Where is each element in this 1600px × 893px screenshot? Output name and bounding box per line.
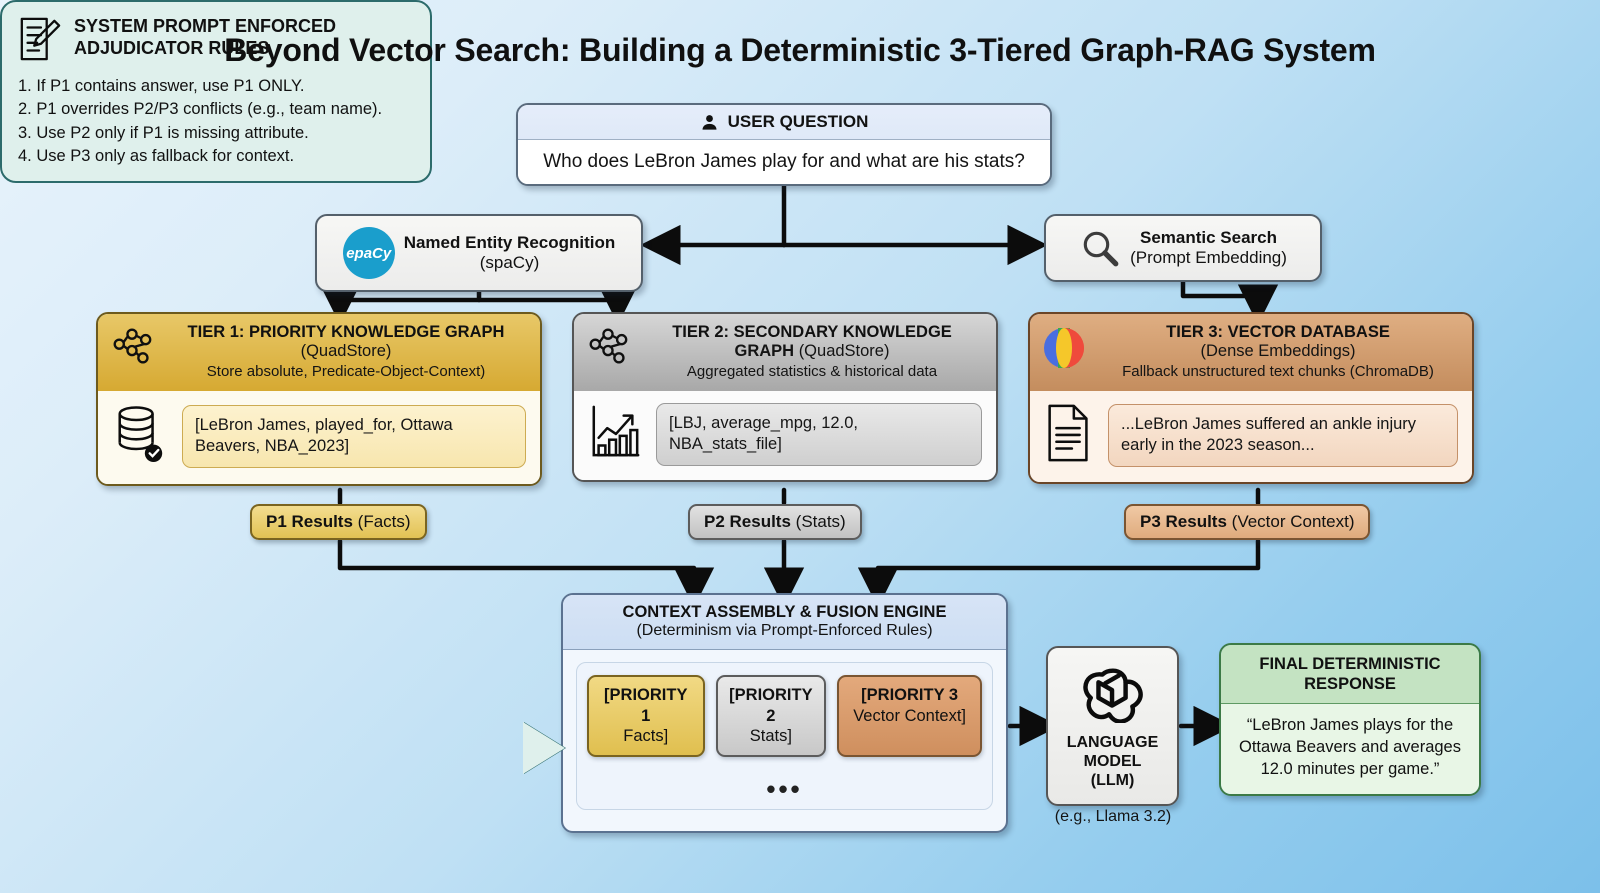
p3-results-pill: P3 Results (Vector Context) — [1124, 504, 1370, 540]
tier2-header: TIER 2: SECONDARY KNOWLEDGE GRAPH (QuadS… — [574, 314, 996, 391]
tier2-sample: [LBJ, average_mpg, 12.0, NBA_stats_file] — [656, 403, 982, 466]
tier1-desc: Store absolute, Predicate-Object-Context… — [164, 363, 528, 381]
rule-item: 4. Use P3 only as fallback for context. — [18, 145, 414, 168]
database-check-icon — [112, 403, 168, 470]
priority-3-sublabel: Vector Context] — [849, 706, 970, 727]
priority-2-label: [PRIORITY 2 — [728, 685, 815, 726]
magnifier-icon — [1079, 227, 1121, 269]
tier3-desc: Fallback unstructured text chunks (Chrom… — [1096, 363, 1460, 381]
p2-sublabel: (Stats) — [796, 512, 846, 531]
semantic-search-header: Semantic Search (Prompt Embedding) — [1046, 216, 1320, 280]
semantic-search-label: Semantic Search (Prompt Embedding) — [1130, 228, 1287, 268]
llm-line2: MODEL — [1084, 753, 1142, 770]
tier2-card: TIER 2: SECONDARY KNOWLEDGE GRAPH (QuadS… — [572, 312, 998, 482]
final-response-header: FINAL DETERMINISTIC RESPONSE — [1221, 645, 1479, 704]
tier1-card: TIER 1: PRIORITY KNOWLEDGE GRAPH (QuadSt… — [96, 312, 542, 486]
tier2-body: [LBJ, average_mpg, 12.0, NBA_stats_file] — [574, 391, 996, 480]
p3-sublabel: (Vector Context) — [1232, 512, 1355, 531]
p1-sublabel: (Facts) — [358, 512, 411, 531]
tier2-title-line2: GRAPH (QuadStore) — [640, 342, 984, 362]
chroma-logo-icon — [1042, 326, 1086, 375]
tier1-sample: [LeBron James, played_for, Ottawa Beaver… — [182, 405, 526, 468]
bar-chart-trend-icon — [588, 403, 642, 466]
language-model-caption: (e.g., Llama 3.2) — [1020, 808, 1206, 826]
rule-item: 1. If P1 contains answer, use P1 ONLY. — [18, 75, 414, 98]
tier2-title2: GRAPH — [735, 342, 795, 360]
ner-card: epaCy Named Entity Recognition (spaCy) — [315, 214, 643, 292]
tier2-titles: TIER 2: SECONDARY KNOWLEDGE GRAPH (QuadS… — [640, 323, 984, 381]
rule-item: 3. Use P2 only if P1 is missing attribut… — [18, 122, 414, 145]
tier1-header: TIER 1: PRIORITY KNOWLEDGE GRAPH (QuadSt… — [98, 314, 540, 391]
tier2-desc: Aggregated statistics & historical data — [640, 363, 984, 381]
tier1-titles: TIER 1: PRIORITY KNOWLEDGE GRAPH (QuadSt… — [164, 323, 528, 381]
ner-header: epaCy Named Entity Recognition (spaCy) — [317, 216, 641, 290]
p1-results-pill: P1 Results (Facts) — [250, 504, 427, 540]
priority-3-chip: [PRIORITY 3 Vector Context] — [837, 675, 982, 757]
p2-results-pill: P2 Results (Stats) — [688, 504, 862, 540]
priority-2-sublabel: Stats] — [728, 726, 815, 747]
user-question-title: USER QUESTION — [728, 112, 869, 132]
tier3-title: TIER 3: VECTOR DATABASE — [1096, 323, 1460, 342]
tier3-sample: ...LeBron James suffered an ankle injury… — [1108, 404, 1458, 467]
graph-nodes-icon — [586, 326, 630, 371]
user-icon — [700, 113, 719, 132]
p3-label: P3 Results — [1140, 512, 1232, 531]
tier1-body: [LeBron James, played_for, Ottawa Beaver… — [98, 391, 540, 484]
ner-title: Named Entity Recognition — [404, 233, 616, 252]
user-question-card: USER QUESTION Who does LeBron James play… — [516, 103, 1052, 186]
llm-line1: LANGUAGE — [1067, 734, 1159, 751]
fusion-engine-title: CONTEXT ASSEMBLY & FUSION ENGINE — [573, 603, 996, 622]
ner-subtitle: (spaCy) — [480, 253, 540, 272]
final-response-text: “LeBron James plays for the Ottawa Beave… — [1221, 704, 1479, 794]
fusion-engine-card: CONTEXT ASSEMBLY & FUSION ENGINE (Determ… — [561, 593, 1008, 833]
tier3-store: (Dense Embeddings) — [1096, 342, 1460, 362]
llm-line3: (LLM) — [1091, 772, 1135, 789]
tier2-title: TIER 2: SECONDARY KNOWLEDGE — [640, 323, 984, 342]
priority-2-chip: [PRIORITY 2 Stats] — [716, 675, 827, 757]
ellipsis-indicator: ••• — [563, 774, 1006, 805]
semantic-search-subtitle: (Prompt Embedding) — [1130, 248, 1287, 267]
priority-1-label: [PRIORITY 1 — [599, 685, 693, 726]
fusion-engine-subtitle: (Determinism via Prompt-Enforced Rules) — [573, 622, 996, 640]
priority-1-sublabel: Facts] — [599, 726, 693, 747]
fusion-engine-body: [PRIORITY 1 Facts] [PRIORITY 2 Stats] [P… — [576, 662, 993, 810]
user-question-header: USER QUESTION — [518, 105, 1050, 140]
p1-label: P1 Results — [266, 512, 358, 531]
ner-label: Named Entity Recognition (spaCy) — [404, 233, 616, 273]
priority-3-label: [PRIORITY 3 — [849, 685, 970, 706]
graph-nodes-icon — [110, 326, 154, 371]
semantic-search-title: Semantic Search — [1140, 228, 1277, 247]
p2-label: P2 Results — [704, 512, 796, 531]
tier3-body: ...LeBron James suffered an ankle injury… — [1030, 391, 1472, 482]
fusion-engine-header: CONTEXT ASSEMBLY & FUSION ENGINE (Determ… — [563, 595, 1006, 650]
openai-knot-icon — [1082, 661, 1144, 728]
document-icon — [1044, 403, 1094, 468]
user-question-text: Who does LeBron James play for and what … — [518, 140, 1050, 184]
language-model-label: LANGUAGE MODEL (LLM) — [1067, 734, 1159, 791]
tier3-card: TIER 3: VECTOR DATABASE (Dense Embedding… — [1028, 312, 1474, 484]
page-title: Beyond Vector Search: Building a Determi… — [0, 32, 1600, 69]
callout-tail — [523, 722, 565, 774]
language-model-card: LANGUAGE MODEL (LLM) — [1046, 646, 1179, 806]
priority-1-chip: [PRIORITY 1 Facts] — [587, 675, 705, 757]
final-title-line1: FINAL DETERMINISTIC — [1259, 655, 1440, 673]
tier3-header: TIER 3: VECTOR DATABASE (Dense Embedding… — [1030, 314, 1472, 391]
priority-chip-row: [PRIORITY 1 Facts] [PRIORITY 2 Stats] [P… — [587, 675, 982, 757]
adjudicator-rules-list: 1. If P1 contains answer, use P1 ONLY. 2… — [18, 75, 414, 169]
rule-item: 2. P1 overrides P2/P3 conflicts (e.g., t… — [18, 98, 414, 121]
adjudicator-rules-card: SYSTEM PROMPT ENFORCED ADJUDICATOR RULES… — [0, 0, 432, 183]
tier1-title: TIER 1: PRIORITY KNOWLEDGE GRAPH — [164, 323, 528, 342]
final-response-card: FINAL DETERMINISTIC RESPONSE “LeBron Jam… — [1219, 643, 1481, 796]
tier1-store: (QuadStore) — [164, 342, 528, 362]
tier2-store: (QuadStore) — [799, 342, 890, 360]
semantic-search-card: Semantic Search (Prompt Embedding) — [1044, 214, 1322, 282]
tier3-titles: TIER 3: VECTOR DATABASE (Dense Embedding… — [1096, 323, 1460, 381]
spacy-logo-icon: epaCy — [343, 227, 395, 279]
diagram-canvas: Beyond Vector Search: Building a Determi… — [0, 0, 1600, 893]
final-title-line2: RESPONSE — [1304, 675, 1396, 693]
